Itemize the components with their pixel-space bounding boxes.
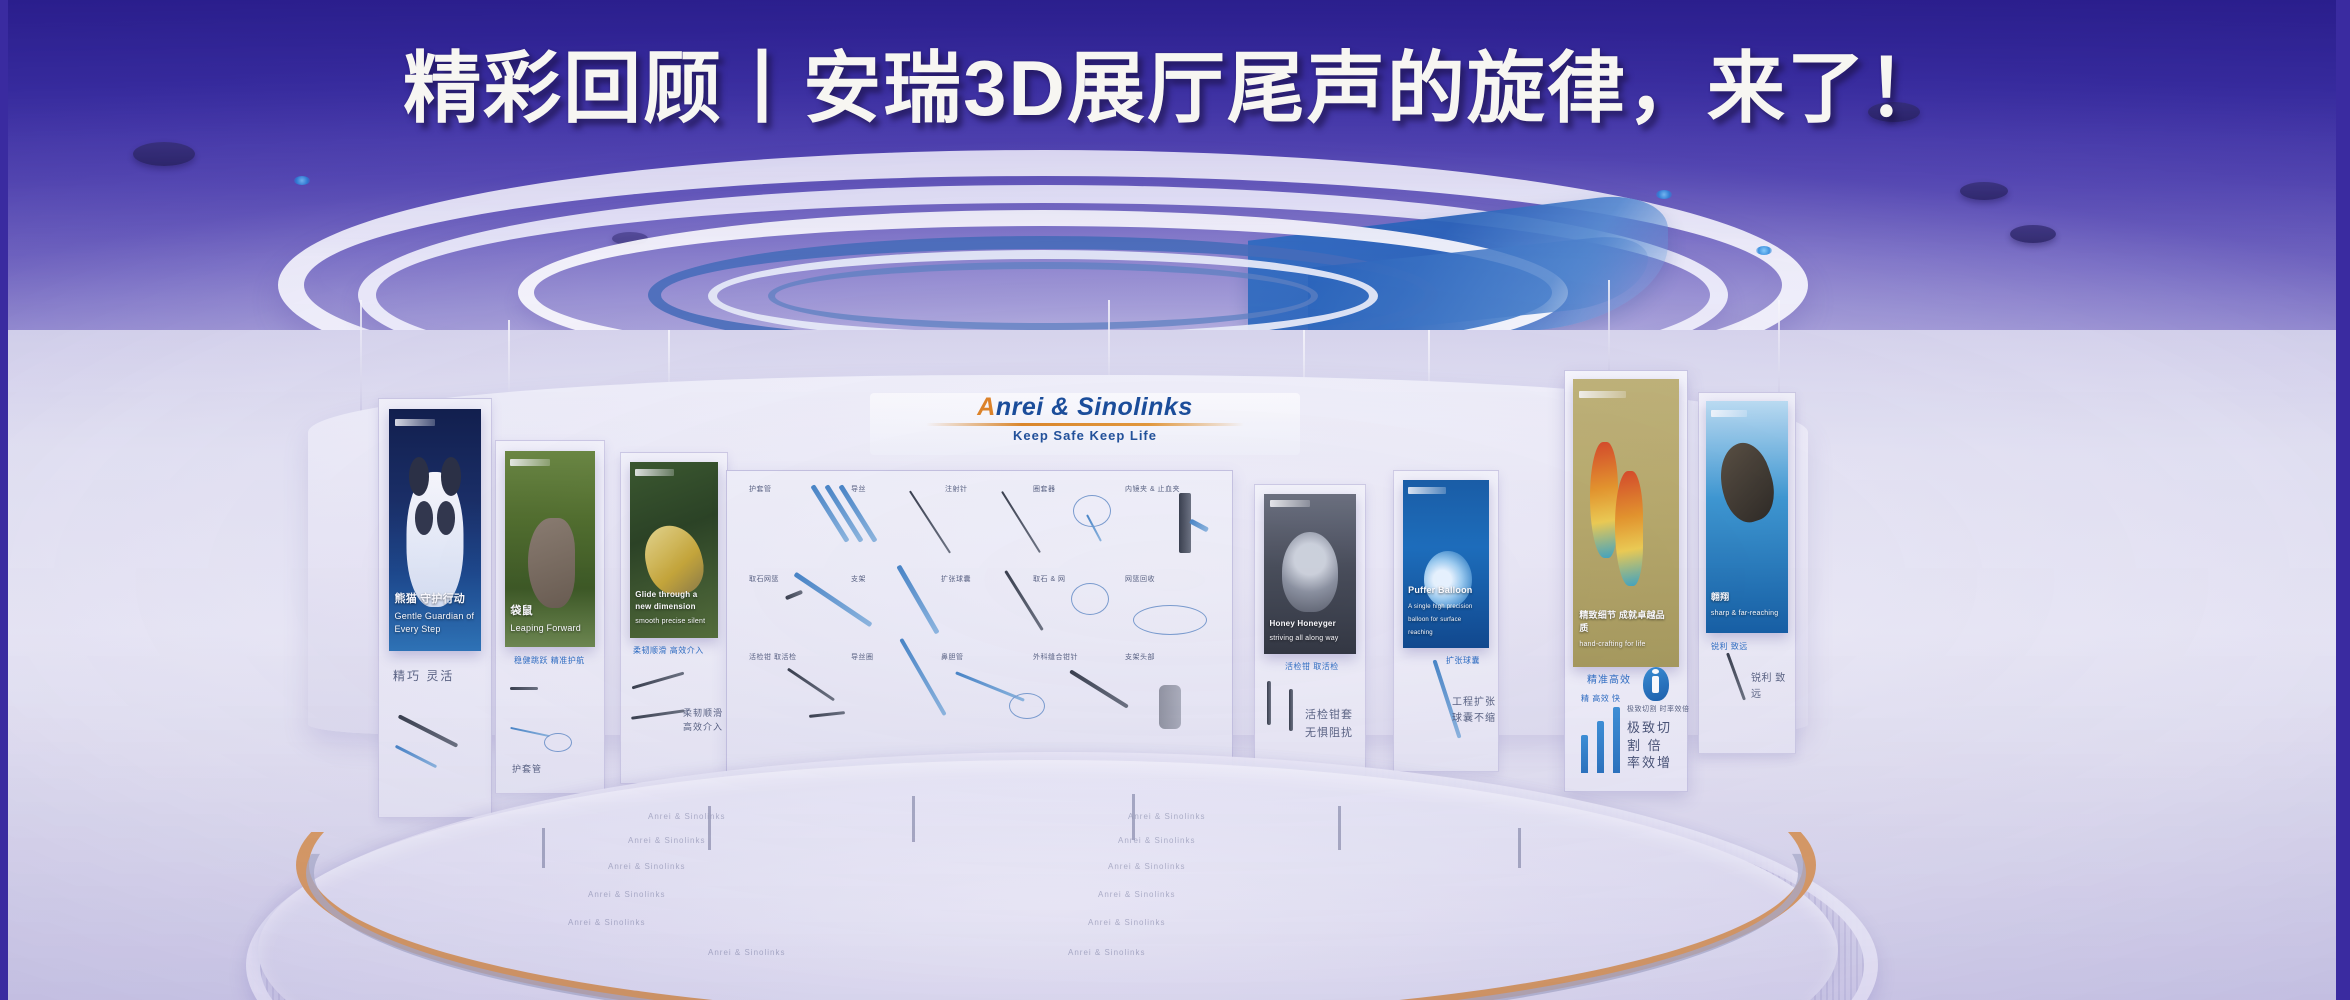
product-label: 外科缝合钳针: [1033, 653, 1078, 664]
led-glow-icon: [1656, 190, 1672, 199]
poster-logo: [1270, 500, 1310, 507]
poster-puffer-title: Puffer Balloon: [1408, 584, 1484, 597]
brand-name-rest: nrei & Sinolinks: [996, 393, 1193, 421]
handrail-post: [1518, 828, 1521, 868]
anrei-i-logo-icon: [1643, 667, 1669, 701]
product-label: 支架头部: [1125, 653, 1155, 664]
product-stent-icon: [896, 564, 939, 634]
poster-frog-subtitle: smooth precise silent: [635, 618, 705, 625]
brand-banner: Anrei & Sinolinks Keep Safe Keep Life: [870, 393, 1300, 455]
instrument-eagle-icon: [1726, 652, 1746, 700]
led-glow-icon: [1756, 246, 1772, 255]
product-label: 注射针: [945, 485, 968, 496]
exhibit-caption-kangaroo: 稳健跳跃 精准护航: [514, 655, 585, 667]
poster-frog[interactable]: Glide through a new dimension smooth pre…: [630, 462, 718, 638]
handrail-post: [708, 806, 711, 850]
instrument-tip-icon: [510, 687, 538, 690]
showroom-scene: 熊猫 守护行动 Gentle Guardian of Every Step 精巧…: [8, 0, 2336, 1000]
product-label: 网篮回收: [1125, 575, 1155, 586]
handrail-post: [912, 796, 915, 842]
right-letterbox-bar: [2336, 0, 2350, 1000]
handrail-steel-band: [306, 714, 1806, 1000]
poster-puffer[interactable]: Puffer Balloon A single high precision b…: [1403, 480, 1489, 648]
showroom-banner: 熊猫 守护行动 Gentle Guardian of Every Step 精巧…: [0, 0, 2350, 1000]
ceiling-spotlight-icon: [1960, 182, 2008, 200]
poster-frog-title: Glide through a new dimension: [635, 589, 712, 612]
poster-bird[interactable]: 精致细节 成就卓越品质 hand-crafting for life: [1573, 379, 1679, 667]
ceiling-spotlight-icon: [133, 142, 195, 166]
product-retrieval-loop-icon: [1071, 583, 1109, 615]
panda-eye-right-icon: [437, 501, 455, 535]
product-label: 支架: [851, 575, 866, 586]
exhibit-caption-eagle: 锐利 致远: [1711, 641, 1748, 653]
left-letterbox-bar: [0, 0, 8, 1000]
totem-brand-label: 精准高效: [1587, 673, 1631, 688]
poster-bird-text: 精致细节 成就卓越品质 hand-crafting for life: [1579, 609, 1672, 650]
bee-eater-illustration-2: [1615, 471, 1643, 586]
product-label: 圈套器: [1033, 485, 1056, 496]
kangaroo-illustration: [528, 518, 575, 608]
product-needle-icon: [1001, 491, 1041, 553]
poster-logo: [1579, 391, 1626, 398]
poster-logo: [395, 419, 435, 426]
product-label: 取石网篮: [749, 575, 779, 586]
product-label: 扩张球囊: [941, 575, 971, 586]
brand-swoosh-icon: [926, 423, 1244, 426]
poster-logo: [1711, 410, 1747, 417]
poster-logo: [635, 469, 674, 476]
ceiling-spotlight-icon: [2010, 225, 2056, 243]
product-guidewire-icon: [909, 490, 951, 553]
product-label: 护套管: [749, 485, 772, 496]
exhibit-caption-frog: 柔韧顺滑 高效介入: [633, 645, 704, 657]
exhibit-caption-badger: 活检钳 取活检: [1285, 661, 1339, 673]
poster-bird-subtitle: hand-crafting for life: [1579, 641, 1645, 648]
poster-badger-title: Honey Honeyger: [1270, 618, 1351, 630]
handrail-post: [1338, 806, 1341, 850]
brand-tagline: Keep Safe Keep Life: [870, 428, 1300, 443]
poster-kangaroo-title: 袋鼠: [510, 604, 589, 620]
poster-badger-subtitle: striving all along way: [1270, 635, 1339, 642]
product-label: 内镜夹 & 止血夹: [1125, 485, 1180, 496]
poster-frog-text: Glide through a new dimension smooth pre…: [635, 589, 712, 627]
poster-kangaroo[interactable]: 袋鼠 Leaping Forward: [505, 451, 595, 647]
poster-panda-subtitle: Gentle Guardian of Every Step: [395, 611, 475, 634]
poster-panda-title: 熊猫 守护行动: [395, 592, 476, 608]
product-label: 鼻胆管: [941, 653, 964, 664]
panda-eye-left-icon: [415, 501, 433, 535]
product-clip-arm-icon: [1189, 519, 1209, 533]
product-label: 活检钳 取活检: [749, 653, 796, 664]
product-label: 导丝: [851, 485, 866, 496]
handrail-post: [542, 828, 545, 868]
poster-panda[interactable]: 熊猫 守护行动 Gentle Guardian of Every Step: [389, 409, 481, 651]
exhibit-caption-puffer: 扩张球囊: [1446, 655, 1480, 667]
brand-initial: A: [977, 393, 996, 421]
ceiling-ring-inner: [768, 262, 1318, 330]
product-label: 取石 & 网: [1033, 575, 1066, 586]
poster-kangaroo-subtitle: Leaping Forward: [510, 623, 581, 633]
poster-kangaroo-text: 袋鼠 Leaping Forward: [510, 604, 589, 635]
instrument-forceps-icon: [632, 672, 685, 690]
poster-badger-text: Honey Honeyger striving all along way: [1270, 618, 1351, 645]
poster-eagle-title: 翱翔: [1711, 591, 1783, 604]
poster-panda-text: 熊猫 守护行动 Gentle Guardian of Every Step: [395, 592, 476, 636]
poster-eagle-text: 翱翔 sharp & far-reaching: [1711, 591, 1783, 619]
poster-logo: [1408, 487, 1446, 494]
led-glow-icon: [294, 176, 310, 185]
brand-name: Anrei & Sinolinks: [870, 393, 1300, 422]
panda-ear-right-icon: [441, 457, 461, 496]
poster-eagle[interactable]: 翱翔 sharp & far-reaching: [1706, 401, 1788, 633]
bee-eater-illustration: [1590, 442, 1618, 557]
product-biopsy-forceps-icon: [787, 668, 835, 702]
platform-handrail: [296, 700, 1816, 1000]
product-basket-tip-icon: [785, 590, 803, 600]
exhibit-caption-panda: 精巧 灵活: [393, 667, 454, 685]
poster-badger[interactable]: Honey Honeyger striving all along way: [1264, 494, 1356, 654]
exhibit-subcaption-eagle: 锐利 致远: [1751, 671, 1789, 703]
product-net-icon: [1133, 605, 1207, 635]
product-label: 导丝圈: [851, 653, 874, 664]
eagle-illustration: [1710, 437, 1783, 528]
poster-puffer-text: Puffer Balloon A single high precision b…: [1408, 584, 1484, 638]
page-title: 精彩回顾丨安瑞3D展厅尾声的旋律，来了！: [0, 26, 2350, 138]
poster-eagle-subtitle: sharp & far-reaching: [1711, 610, 1778, 617]
poster-puffer-subtitle: A single high precision balloon for surf…: [1408, 604, 1472, 636]
badger-illustration: [1282, 532, 1337, 612]
handrail-post: [1132, 794, 1135, 840]
poster-bird-title: 精致细节 成就卓越品质: [1579, 609, 1672, 635]
poster-logo: [510, 459, 550, 466]
